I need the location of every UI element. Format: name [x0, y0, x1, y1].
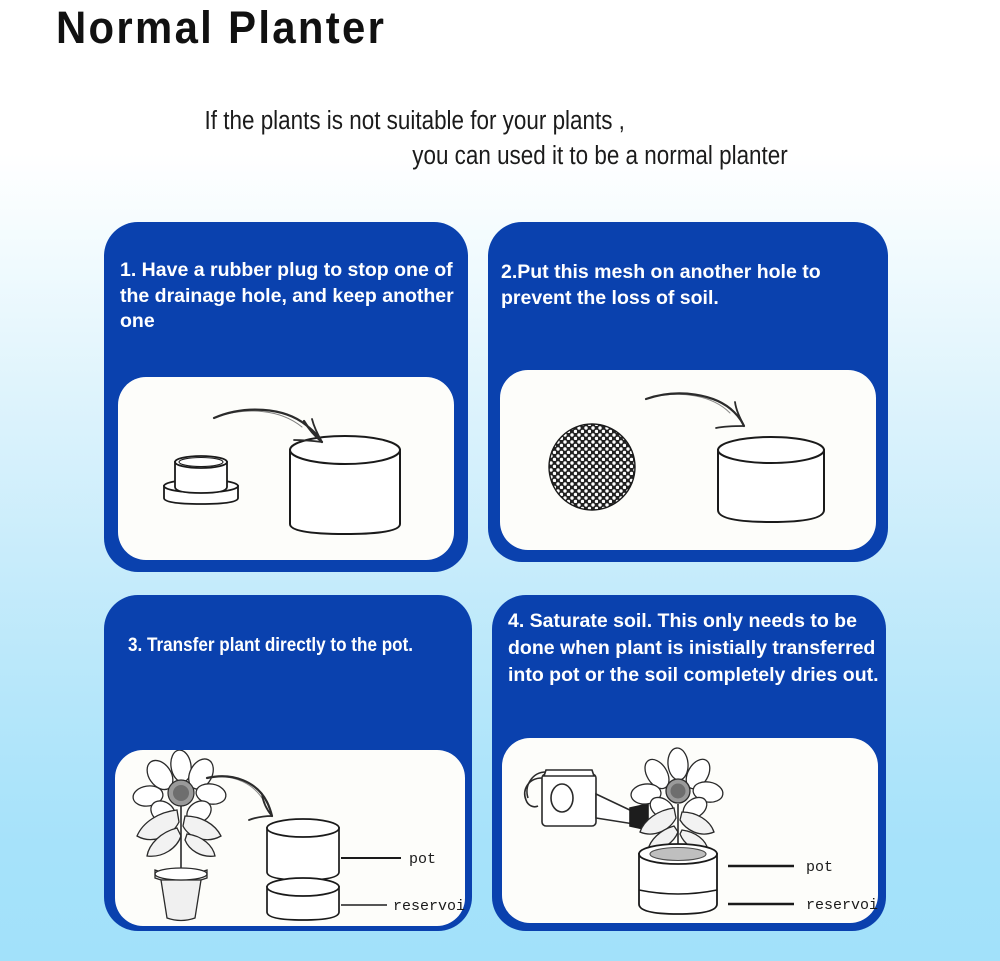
reservoir-label: reservoir — [806, 897, 878, 914]
assembled-planter — [639, 844, 717, 914]
step-1-illustration — [118, 377, 454, 560]
rubber-plug-to-pot-icon — [118, 377, 454, 560]
step-card-4: 4. Saturate soil. This only needs to be … — [492, 595, 886, 931]
pot-label: pot — [409, 851, 436, 868]
step-card-1: 1. Have a rubber plug to stop one of the… — [104, 222, 468, 572]
step-card-2: 2.Put this mesh on another hole to preve… — [488, 222, 888, 562]
potted-flower-to-pot-and-reservoir-icon: pot reservoir — [115, 750, 465, 926]
step-4-text: 4. Saturate soil. This only needs to be … — [508, 608, 880, 689]
step-2-illustration — [500, 370, 876, 550]
step-3-illustration: pot reservoir — [115, 750, 465, 926]
watering-can — [525, 770, 648, 830]
watering-can-and-planted-flower-icon: pot reservoir — [502, 738, 878, 923]
page-title: Normal Planter — [56, 2, 386, 54]
step-4-illustration: pot reservoir — [502, 738, 878, 923]
step-1-text: 1. Have a rubber plug to stop one of the… — [120, 258, 460, 335]
mesh-disc — [549, 424, 635, 510]
page-subtitle: If the plants is not suitable for your p… — [150, 104, 872, 174]
step-3-text: 3. Transfer plant directly to the pot. — [128, 633, 434, 658]
flower — [630, 747, 724, 856]
subtitle-line-2: you can used it to be a normal planter — [150, 139, 872, 174]
step-card-3: 3. Transfer plant directly to the pot. — [104, 595, 472, 931]
reservoir-label: reservoir — [393, 898, 465, 915]
step-2-text: 2.Put this mesh on another hole to preve… — [501, 260, 881, 311]
subtitle-line-1: If the plants is not suitable for your p… — [150, 104, 872, 139]
potted-flower — [132, 750, 228, 921]
pot-label: pot — [806, 859, 833, 876]
mesh-disc-to-pot-icon — [500, 370, 876, 550]
